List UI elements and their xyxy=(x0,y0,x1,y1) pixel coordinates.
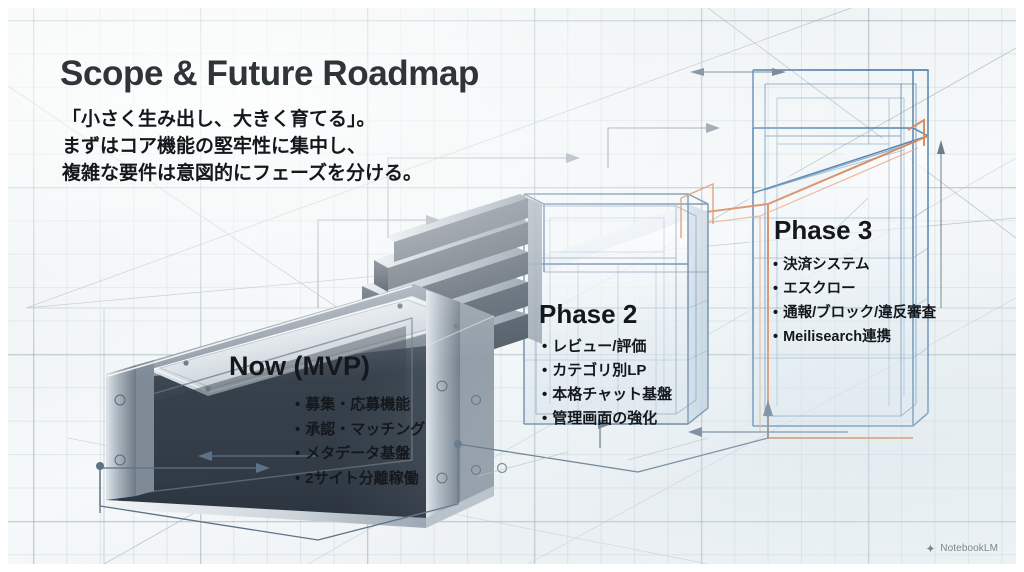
notebooklm-watermark: NotebookLM xyxy=(925,543,998,554)
list-item: Meilisearch連携 xyxy=(773,325,936,349)
leader-line-to-phase2 xyxy=(318,215,440,308)
list-item: レビュー/評価 xyxy=(542,335,672,359)
page-title: Scope & Future Roadmap xyxy=(60,54,479,94)
notebooklm-logo-icon xyxy=(925,543,936,554)
leader-line-to-phase3 xyxy=(608,123,720,168)
list-item: 承認・マッチング xyxy=(295,418,425,443)
list-item: カテゴリ別LP xyxy=(542,359,672,383)
list-item: 2サイト分離稼働 xyxy=(295,467,425,492)
page-subtitle: 「小さく生み出し、大きく育てる」。 まずはコア機能の堅牢性に集中し、 複雑な要件… xyxy=(62,106,422,187)
list-item: 通報/ブロック/違反審査 xyxy=(773,301,936,325)
list-item: 募集・応募機能 xyxy=(295,393,425,418)
phase-bullets-phase2: レビュー/評価 カテゴリ別LP 本格チャット基盤 管理画面の強化 xyxy=(542,335,672,431)
ground-dimension-lines xyxy=(96,400,848,540)
list-item: 管理画面の強化 xyxy=(542,407,672,431)
phase-title-phase2: Phase 2 xyxy=(539,299,637,330)
list-item: 決済システム xyxy=(773,253,936,277)
list-item: メタデータ基盤 xyxy=(295,442,425,467)
phase-bullets-phase3: 決済システム エスクロー 通報/ブロック/違反審査 Meilisearch連携 xyxy=(773,253,936,349)
phase-title-phase3: Phase 3 xyxy=(774,215,872,246)
phase-title-mvp: Now (MVP) xyxy=(229,351,370,382)
list-item: エスクロー xyxy=(773,277,936,301)
slide-root: Scope & Future Roadmap 「小さく生み出し、大きく育てる」。… xyxy=(0,0,1024,572)
blueprint-canvas: Scope & Future Roadmap 「小さく生み出し、大きく育てる」。… xyxy=(8,8,1016,564)
list-item: 本格チャット基盤 xyxy=(542,383,672,407)
phase-bullets-mvp: 募集・応募機能 承認・マッチング メタデータ基盤 2サイト分離稼働 xyxy=(295,393,425,491)
watermark-label: NotebookLM xyxy=(940,543,998,554)
